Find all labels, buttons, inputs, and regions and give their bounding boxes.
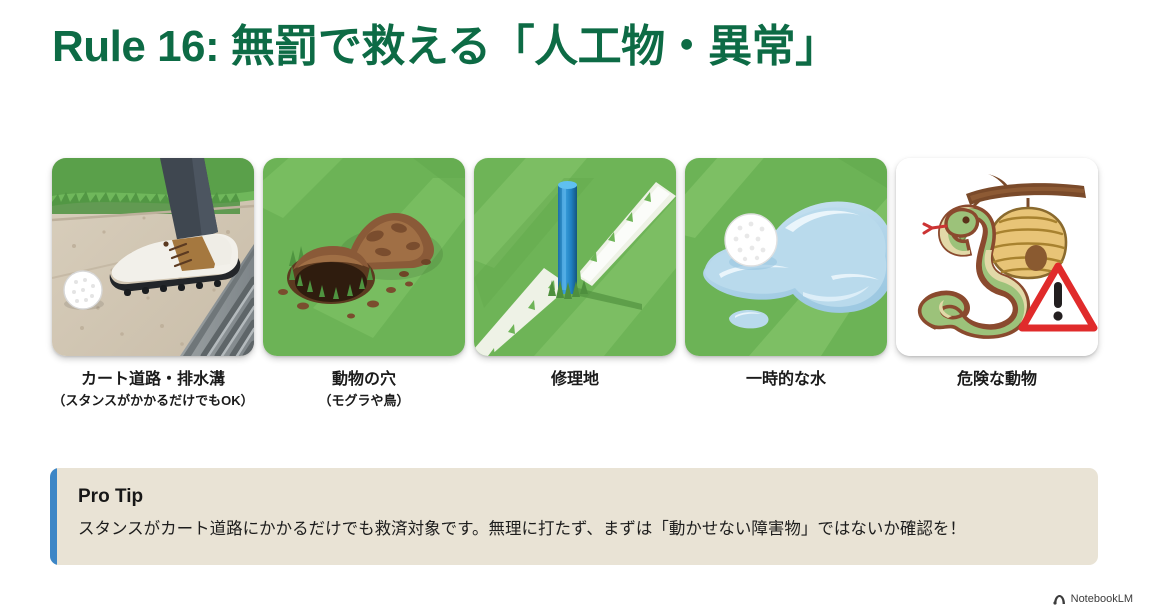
- cart-path-drain-illustration: [52, 158, 254, 356]
- card-dangerous-animal[interactable]: 危険な動物: [896, 158, 1098, 409]
- notebooklm-logo-icon: [1053, 594, 1066, 605]
- pro-tip-callout: Pro Tip スタンスがカート道路にかかるだけでも救済対象です。無理に打たず、…: [50, 468, 1098, 565]
- pro-tip-body: スタンスがカート道路にかかるだけでも救済対象です。無理に打たず、まずは「動かせな…: [78, 518, 1072, 540]
- card-sublabel: （モグラや鳥）: [318, 393, 409, 409]
- ground-under-repair-stake-illustration: [474, 158, 676, 356]
- notebooklm-watermark: NotebookLM: [1053, 593, 1133, 605]
- page-title: Rule 16: 無罰で救える「人工物・異常」: [52, 22, 839, 73]
- card-animal-hole[interactable]: 動物の穴 （モグラや鳥）: [263, 158, 465, 409]
- card-ground-under-repair[interactable]: 修理地: [474, 158, 676, 409]
- pro-tip-title: Pro Tip: [78, 486, 1072, 509]
- relief-situations-row: カート道路・排水溝 （スタンスがかかるだけでもOK）: [52, 158, 1098, 409]
- temporary-water-puddle-illustration: [685, 158, 887, 356]
- card-sublabel: （スタンスがかかるだけでもOK）: [52, 393, 253, 409]
- animal-hole-illustration: [263, 158, 465, 356]
- card-label: 修理地: [551, 370, 599, 390]
- card-cart-path-drain[interactable]: カート道路・排水溝 （スタンスがかかるだけでもOK）: [52, 158, 254, 409]
- card-label: 一時的な水: [746, 370, 826, 390]
- pro-tip-accent-bar: [50, 468, 57, 565]
- card-label: 危険な動物: [957, 370, 1037, 390]
- card-label: 動物の穴: [332, 370, 396, 390]
- card-label: カート道路・排水溝: [81, 370, 225, 390]
- card-temporary-water[interactable]: 一時的な水: [685, 158, 887, 409]
- dangerous-animal-illustration: [896, 158, 1098, 356]
- notebooklm-watermark-label: NotebookLM: [1071, 593, 1133, 605]
